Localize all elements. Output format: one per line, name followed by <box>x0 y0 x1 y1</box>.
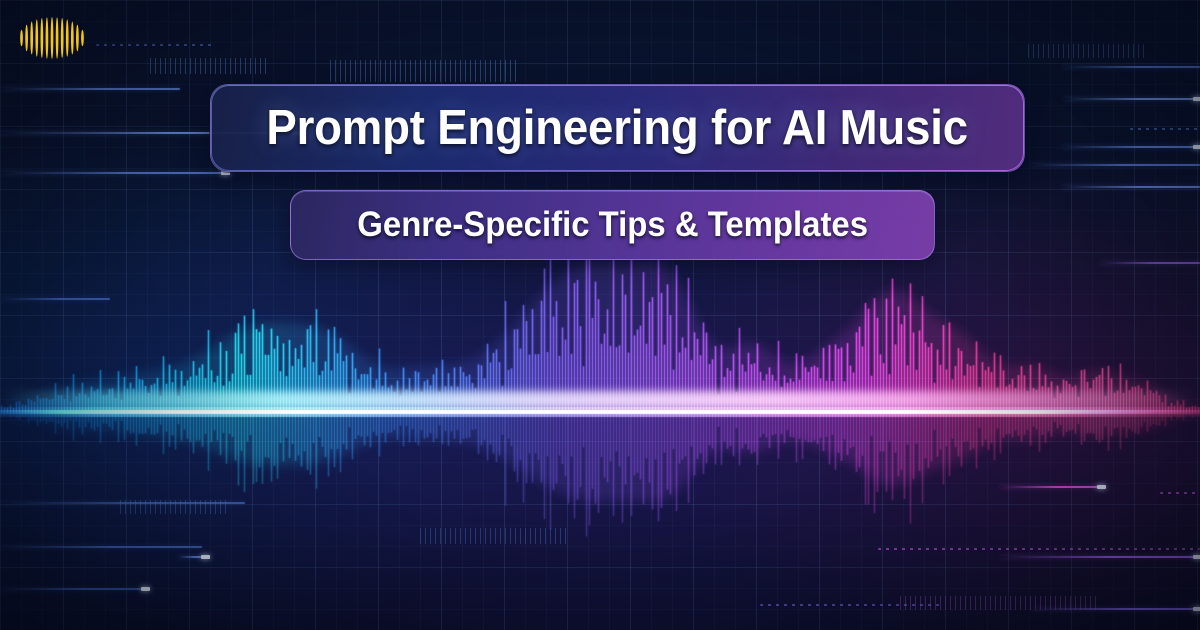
streak-endpoint-dot <box>1193 607 1200 611</box>
poster-canvas: Prompt Engineering for AI Music Genre-Sp… <box>0 0 1200 630</box>
data-streak <box>1130 128 1200 130</box>
data-streak <box>1064 98 1200 100</box>
data-streak <box>1062 66 1200 68</box>
data-streak <box>96 44 214 46</box>
data-streak <box>1030 164 1200 166</box>
streak-endpoint-dot <box>141 587 150 591</box>
subtitle-card: Genre-Specific Tips & Templates <box>290 190 935 260</box>
streak-endpoint-dot <box>1193 145 1200 149</box>
data-streak <box>0 88 180 90</box>
data-streak <box>760 604 940 606</box>
data-streak <box>1062 186 1200 188</box>
streak-endpoint-dot <box>1193 97 1200 101</box>
data-streak <box>1032 608 1200 610</box>
waveform-visualization <box>0 255 1200 585</box>
title-card: Prompt Engineering for AI Music <box>210 84 1025 172</box>
tick-comb <box>900 596 1100 610</box>
audio-waveform-logo-icon[interactable] <box>14 14 90 62</box>
tick-comb <box>1028 44 1148 58</box>
page-title: Prompt Engineering for AI Music <box>267 100 968 156</box>
data-streak <box>0 172 228 174</box>
data-streak <box>1062 146 1200 148</box>
tick-comb <box>150 58 270 74</box>
waveform-canvas <box>0 255 1200 585</box>
page-subtitle: Genre-Specific Tips & Templates <box>357 205 868 245</box>
data-streak <box>0 588 148 590</box>
tick-comb <box>330 60 520 82</box>
